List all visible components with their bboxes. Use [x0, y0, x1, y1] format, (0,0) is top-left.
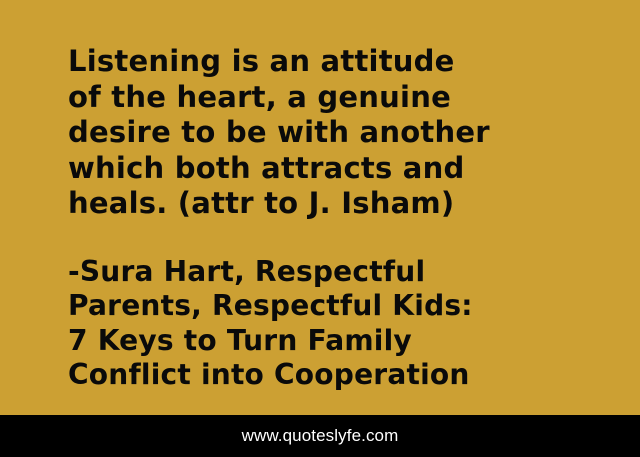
quote-card: Listening is an attitude of the heart, a… [0, 0, 640, 457]
quote-canvas: Listening is an attitude of the heart, a… [0, 0, 640, 415]
quote-line: desire to be with another [68, 115, 566, 151]
quote-line: which both attracts and [68, 151, 566, 187]
footer-bar: www.quoteslyfe.com [0, 415, 640, 457]
site-url-label: www.quoteslyfe.com [242, 426, 399, 446]
quote-line: Listening is an attitude [68, 44, 566, 80]
quote-line: of the heart, a genuine [68, 80, 566, 116]
quote-attribution: -Sura Hart, Respectful Parents, Respectf… [68, 255, 566, 393]
attribution-line: Conflict into Cooperation [68, 358, 566, 393]
attribution-line: -Sura Hart, Respectful [68, 255, 566, 290]
quote-line: heals. (attr to J. Isham) [68, 186, 566, 222]
attribution-line: Parents, Respectful Kids: [68, 289, 566, 324]
quote-text: Listening is an attitude of the heart, a… [68, 44, 566, 222]
attribution-line: 7 Keys to Turn Family [68, 324, 566, 359]
